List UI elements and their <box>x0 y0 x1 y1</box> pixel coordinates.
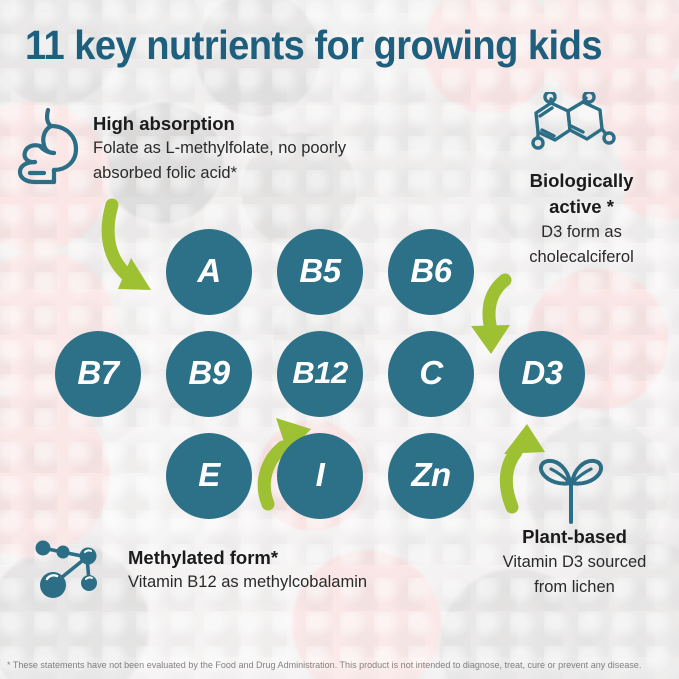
nutrient-circle-b6[interactable]: B6 <box>388 229 474 315</box>
nutrient-label: A <box>197 252 220 290</box>
nutrient-circle-zn[interactable]: Zn <box>388 433 474 519</box>
nutrient-circle-d3[interactable]: D3 <box>499 331 585 417</box>
methylated-form-callout: Methylated form* Vitamin B12 as methylco… <box>128 546 528 595</box>
arrow-to-vitamin-a <box>108 205 151 290</box>
nutrient-label: E <box>198 456 220 494</box>
nutrient-circle-b5[interactable]: B5 <box>277 229 363 315</box>
nutrient-circle-b7[interactable]: B7 <box>55 331 141 417</box>
callout-body-line-2: from lichen <box>470 575 679 600</box>
nutrient-circle-i[interactable]: I <box>277 433 363 519</box>
nutrient-label: I <box>316 456 325 494</box>
callout-body-line-1: Vitamin B12 as methylcobalamin <box>128 570 528 595</box>
nutrient-circle-b9[interactable]: B9 <box>166 331 252 417</box>
molecule-nodes-icon <box>32 538 112 605</box>
nutrient-label: B5 <box>299 252 340 290</box>
nutrient-label: D3 <box>521 354 562 392</box>
nutrient-label: C <box>419 354 442 392</box>
callout-heading: Methylated form* <box>128 546 528 570</box>
sprout-icon <box>529 452 613 529</box>
nutrient-circle-e[interactable]: E <box>166 433 252 519</box>
nutrient-circle-a[interactable]: A <box>166 229 252 315</box>
callout-body-line-1: Vitamin D3 sourced <box>470 550 679 575</box>
fda-disclaimer-footnote: * These statements have not been evaluat… <box>7 659 657 671</box>
nutrients-infographic: 11 key nutrients for growing kids High a… <box>0 0 679 679</box>
nutrient-label: B7 <box>77 354 118 392</box>
plant-based-callout: Plant-based Vitamin D3 sourced from lich… <box>470 524 679 600</box>
nutrient-circle-c[interactable]: C <box>388 331 474 417</box>
nutrient-label: B12 <box>292 355 347 391</box>
arrow-to-vitamin-d3-top <box>471 280 510 354</box>
callout-heading: Plant-based <box>470 524 679 550</box>
nutrient-label: B6 <box>410 252 451 290</box>
nutrient-label: Zn <box>411 456 450 494</box>
nutrient-label: B9 <box>188 354 229 392</box>
nutrient-circle-b12[interactable]: B12 <box>277 331 363 417</box>
